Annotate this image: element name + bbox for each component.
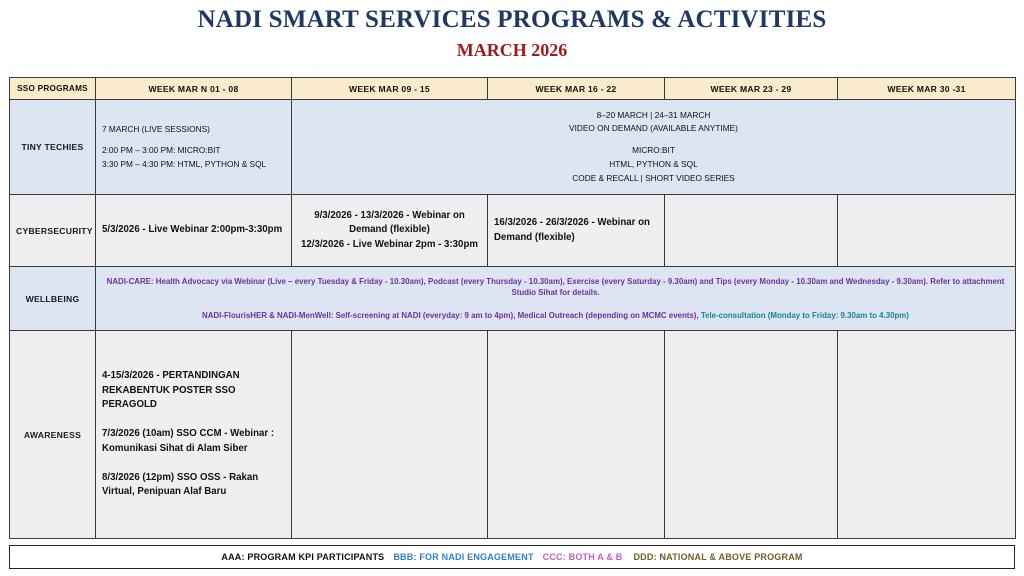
legend-item-ccc: CCC: BOTH A & B	[543, 552, 623, 562]
tiny-techies-line-1: 7 MARCH (LIVE SESSIONS)	[102, 122, 285, 137]
column-header-week-1: WEEK MAR N 01 - 08	[96, 78, 292, 100]
schedule-table: SSO PROGRAMS WEEK MAR N 01 - 08 WEEK MAR…	[9, 77, 1016, 539]
cell-cybersecurity-week-3: 16/3/2026 - 26/3/2026 - Webinar on Deman…	[488, 195, 665, 267]
table-row-wellbeing: WELLBEING NADI-CARE: Health Advocacy via…	[10, 267, 1016, 331]
cell-awareness-week-3	[488, 331, 665, 539]
tiny-techies-span-line-4: HTML, PYTHON & SQL	[298, 158, 1009, 172]
column-header-sso-programs: SSO PROGRAMS	[10, 78, 96, 100]
tiny-techies-line-2: 2:00 PM – 3:00 PM: MICRO:BIT	[102, 143, 285, 158]
awareness-item-1: 4-15/3/2026 - PERTANDINGAN REKABENTUK PO…	[102, 369, 285, 413]
page-title: NADI SMART SERVICES PROGRAMS & ACTIVITIE…	[0, 6, 1024, 35]
awareness-item-3: 8/3/2026 (12pm) SSO OSS - Rakan Virtual,…	[102, 471, 285, 500]
table-body: TINY TECHIES 7 MARCH (LIVE SESSIONS) 2:0…	[10, 100, 1016, 539]
table-row-tiny-techies: TINY TECHIES 7 MARCH (LIVE SESSIONS) 2:0…	[10, 100, 1016, 195]
title-block: NADI SMART SERVICES PROGRAMS & ACTIVITIE…	[0, 0, 1024, 60]
column-header-week-3: WEEK MAR 16 - 22	[488, 78, 665, 100]
column-header-week-2: WEEK MAR 09 - 15	[292, 78, 488, 100]
wellbeing-line-1: NADI-CARE: Health Advocacy via Webinar (…	[102, 276, 1009, 299]
tiny-techies-span-line-1: 8–20 MARCH | 24–31 MARCH	[298, 109, 1009, 123]
cybersecurity-week-2-line-1: 9/3/2026 - 13/3/2026 - Webinar on Demand…	[298, 209, 481, 238]
schedule-poster: NADI SMART SERVICES PROGRAMS & ACTIVITIE…	[0, 0, 1024, 576]
table-header-row: SSO PROGRAMS WEEK MAR N 01 - 08 WEEK MAR…	[10, 78, 1016, 100]
cell-cybersecurity-week-2: 9/3/2026 - 13/3/2026 - Webinar on Demand…	[292, 195, 488, 267]
column-header-week-4: WEEK MAR 23 - 29	[665, 78, 838, 100]
cybersecurity-week-2-line-2: 12/3/2026 - Live Webinar 2pm - 3:30pm	[298, 238, 481, 253]
row-label-tiny-techies: TINY TECHIES	[10, 100, 96, 195]
legend-item-bbb: BBB: FOR NADI ENGAGEMENT	[393, 552, 533, 562]
schedule-table-wrapper: SSO PROGRAMS WEEK MAR N 01 - 08 WEEK MAR…	[9, 77, 1015, 539]
wellbeing-line-2: NADI-FlourisHER & NADI-MenWell: Self-scr…	[102, 310, 1009, 321]
legend-item-ddd: DDD: NATIONAL & ABOVE PROGRAM	[633, 552, 802, 562]
page-subtitle: MARCH 2026	[0, 40, 1024, 61]
legend-bar: AAA: PROGRAM KPI PARTICIPANTSBBB: FOR NA…	[9, 545, 1015, 569]
spacer	[298, 136, 1009, 144]
cell-awareness-week-5	[838, 331, 1016, 539]
table-row-awareness: AWARENESS 4-15/3/2026 - PERTANDINGAN REK…	[10, 331, 1016, 539]
awareness-item-2: 7/3/2026 (10am) SSO CCM - Webinar : Komu…	[102, 427, 285, 456]
cell-tiny-techies-week-1: 7 MARCH (LIVE SESSIONS) 2:00 PM – 3:00 P…	[96, 100, 292, 195]
table-header: SSO PROGRAMS WEEK MAR N 01 - 08 WEEK MAR…	[10, 78, 1016, 100]
legend-item-aaa: AAA: PROGRAM KPI PARTICIPANTS	[221, 552, 384, 562]
row-label-wellbeing: WELLBEING	[10, 267, 96, 331]
cell-awareness-week-2	[292, 331, 488, 539]
cell-awareness-week-1: 4-15/3/2026 - PERTANDINGAN REKABENTUK PO…	[96, 331, 292, 539]
table-row-cybersecurity: CYBERSECURITY 5/3/2026 - Live Webinar 2:…	[10, 195, 1016, 267]
tiny-techies-line-3: 3:30 PM – 4:30 PM: HTML, PYTHON & SQL	[102, 157, 285, 172]
cell-tiny-techies-span: 8–20 MARCH | 24–31 MARCH VIDEO ON DEMAND…	[292, 100, 1016, 195]
wellbeing-teleconsultation: Tele-consultation (Monday to Friday: 9.3…	[701, 311, 909, 320]
tiny-techies-span-line-3: MICRO:BIT	[298, 144, 1009, 158]
tiny-techies-span-line-2: VIDEO ON DEMAND (AVAILABLE ANYTIME)	[298, 122, 1009, 136]
cell-cybersecurity-week-5	[838, 195, 1016, 267]
tiny-techies-span-line-5: CODE & RECALL | SHORT VIDEO SERIES	[298, 172, 1009, 186]
cell-awareness-week-4	[665, 331, 838, 539]
cell-cybersecurity-week-1: 5/3/2026 - Live Webinar 2:00pm-3:30pm	[96, 195, 292, 267]
row-label-awareness: AWARENESS	[10, 331, 96, 539]
row-label-cybersecurity: CYBERSECURITY	[10, 195, 96, 267]
cell-wellbeing-span: NADI-CARE: Health Advocacy via Webinar (…	[96, 267, 1016, 331]
cybersecurity-week-1-text: 5/3/2026 - Live Webinar 2:00pm-3:30pm	[102, 223, 285, 238]
cell-cybersecurity-week-4	[665, 195, 838, 267]
column-header-week-5: WEEK MAR 30 -31	[838, 78, 1016, 100]
wellbeing-line-2-part-1: NADI-FlourisHER & NADI-MenWell: Self-scr…	[202, 311, 701, 320]
legend-text: AAA: PROGRAM KPI PARTICIPANTSBBB: FOR NA…	[221, 552, 802, 562]
cybersecurity-week-3-text: 16/3/2026 - 26/3/2026 - Webinar on Deman…	[494, 216, 658, 245]
